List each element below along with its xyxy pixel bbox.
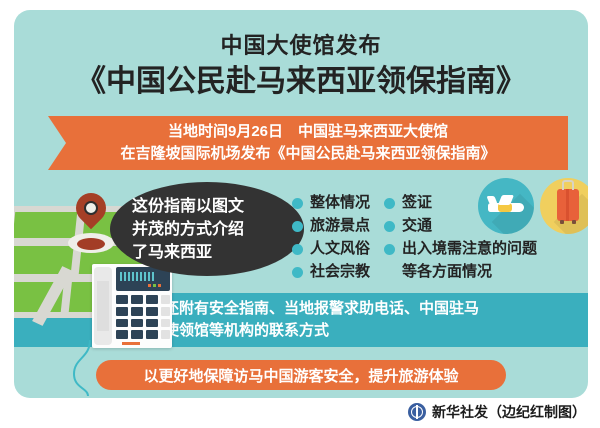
bullet-dot-icon: [292, 267, 303, 278]
list-item-label: 人文风俗: [310, 239, 370, 259]
phone-handset-icon: [94, 267, 112, 345]
list-item-label: 等各方面情况: [402, 262, 492, 282]
ribbon-line-2: 在吉隆坡国际机场发布《中国公民赴马来西亚领保指南》: [120, 143, 495, 165]
suitcase-glyph: [557, 189, 579, 221]
list-item-label: 整体情况: [310, 193, 370, 213]
speech-bubble-text: 这份指南以图文 并茂的方式介绍 了马来西亚: [132, 195, 282, 264]
phone-side-keys: [161, 295, 170, 339]
headline-line-2: 《中国公民赴马来西亚领保指南》: [14, 62, 588, 102]
list-item: 社会宗教: [292, 262, 370, 282]
airplane-glyph: [486, 195, 526, 217]
map-pin-icon: [68, 193, 114, 255]
suitcase-wheel: [560, 220, 564, 224]
phone-accent-bar: [122, 342, 140, 345]
bullet-dot-icon: [292, 198, 303, 209]
phone-indicator-lights: [148, 284, 161, 287]
bubble-line-3: 了马来西亚: [132, 241, 282, 264]
infographic-card: 中国大使馆发布 《中国公民赴马来西亚领保指南》 当地时间9月26日 中国驻马来西…: [14, 10, 588, 398]
bullet-dot-icon: [384, 244, 395, 255]
footer-credit: 新华社发（边纪红制图）: [0, 402, 600, 422]
bullet-dot-icon: [384, 198, 395, 209]
list-item: 等各方面情况: [384, 262, 537, 282]
credit-text: 新华社发（边纪红制图）: [432, 402, 586, 422]
topic-column-left: 整体情况 旅游景点 人文风俗 社会宗教: [292, 193, 370, 282]
list-item-label: 交通: [402, 216, 432, 236]
list-item-label: 社会宗教: [310, 262, 370, 282]
attachment-line-1: 还附有安全指南、当地报警求助电话、中国驻马: [164, 298, 479, 320]
list-item-label: 出入境需注意的问题: [402, 239, 537, 259]
summary-pill: 以更好地保障访马中国游客安全，提升旅游体验: [96, 360, 506, 390]
phone-keypad: [116, 295, 158, 339]
ribbon-line-1: 当地时间9月26日 中国驻马来西亚大使馆: [168, 121, 448, 143]
list-item: 人文风俗: [292, 239, 370, 259]
list-item-label: 旅游景点: [310, 216, 370, 236]
bullet-dot-icon: [384, 221, 395, 232]
list-item: 旅游景点: [292, 216, 370, 236]
desk-phone-illustration: [92, 264, 172, 348]
list-item-label: 签证: [402, 193, 432, 213]
attachment-line-2: 使领馆等机构的联系方式: [164, 320, 479, 342]
bubble-line-2: 并茂的方式介绍: [132, 218, 282, 241]
airplane-icon: [478, 178, 534, 234]
attachment-band-text: 还附有安全指南、当地报警求助电话、中国驻马 使领馆等机构的联系方式: [164, 298, 479, 342]
list-item: 整体情况: [292, 193, 370, 213]
bullet-dot-icon: [292, 221, 303, 232]
summary-pill-text: 以更好地保障访马中国游客安全，提升旅游体验: [143, 365, 458, 386]
bubble-line-1: 这份指南以图文: [132, 195, 282, 218]
phone-lcd-bars: [120, 272, 154, 281]
map-pin-drop: [70, 187, 112, 229]
announcement-ribbon: 当地时间9月26日 中国驻马来西亚大使馆 在吉隆坡国际机场发布《中国公民赴马来西…: [48, 116, 568, 170]
map-pin-base: [77, 238, 105, 250]
suitcase-stripe: [566, 189, 569, 221]
page-title: 中国大使馆发布 《中国公民赴马来西亚领保指南》: [14, 32, 588, 102]
headline-line-1: 中国大使馆发布: [14, 32, 588, 60]
bullet-dot-icon: [292, 244, 303, 255]
suitcase-wheel: [572, 220, 576, 224]
speech-bubble: 这份指南以图文 并茂的方式介绍 了马来西亚: [110, 182, 304, 276]
list-item: 出入境需注意的问题: [384, 239, 537, 259]
suitcase-icon: [540, 178, 588, 234]
xinhua-logo: [408, 403, 426, 421]
